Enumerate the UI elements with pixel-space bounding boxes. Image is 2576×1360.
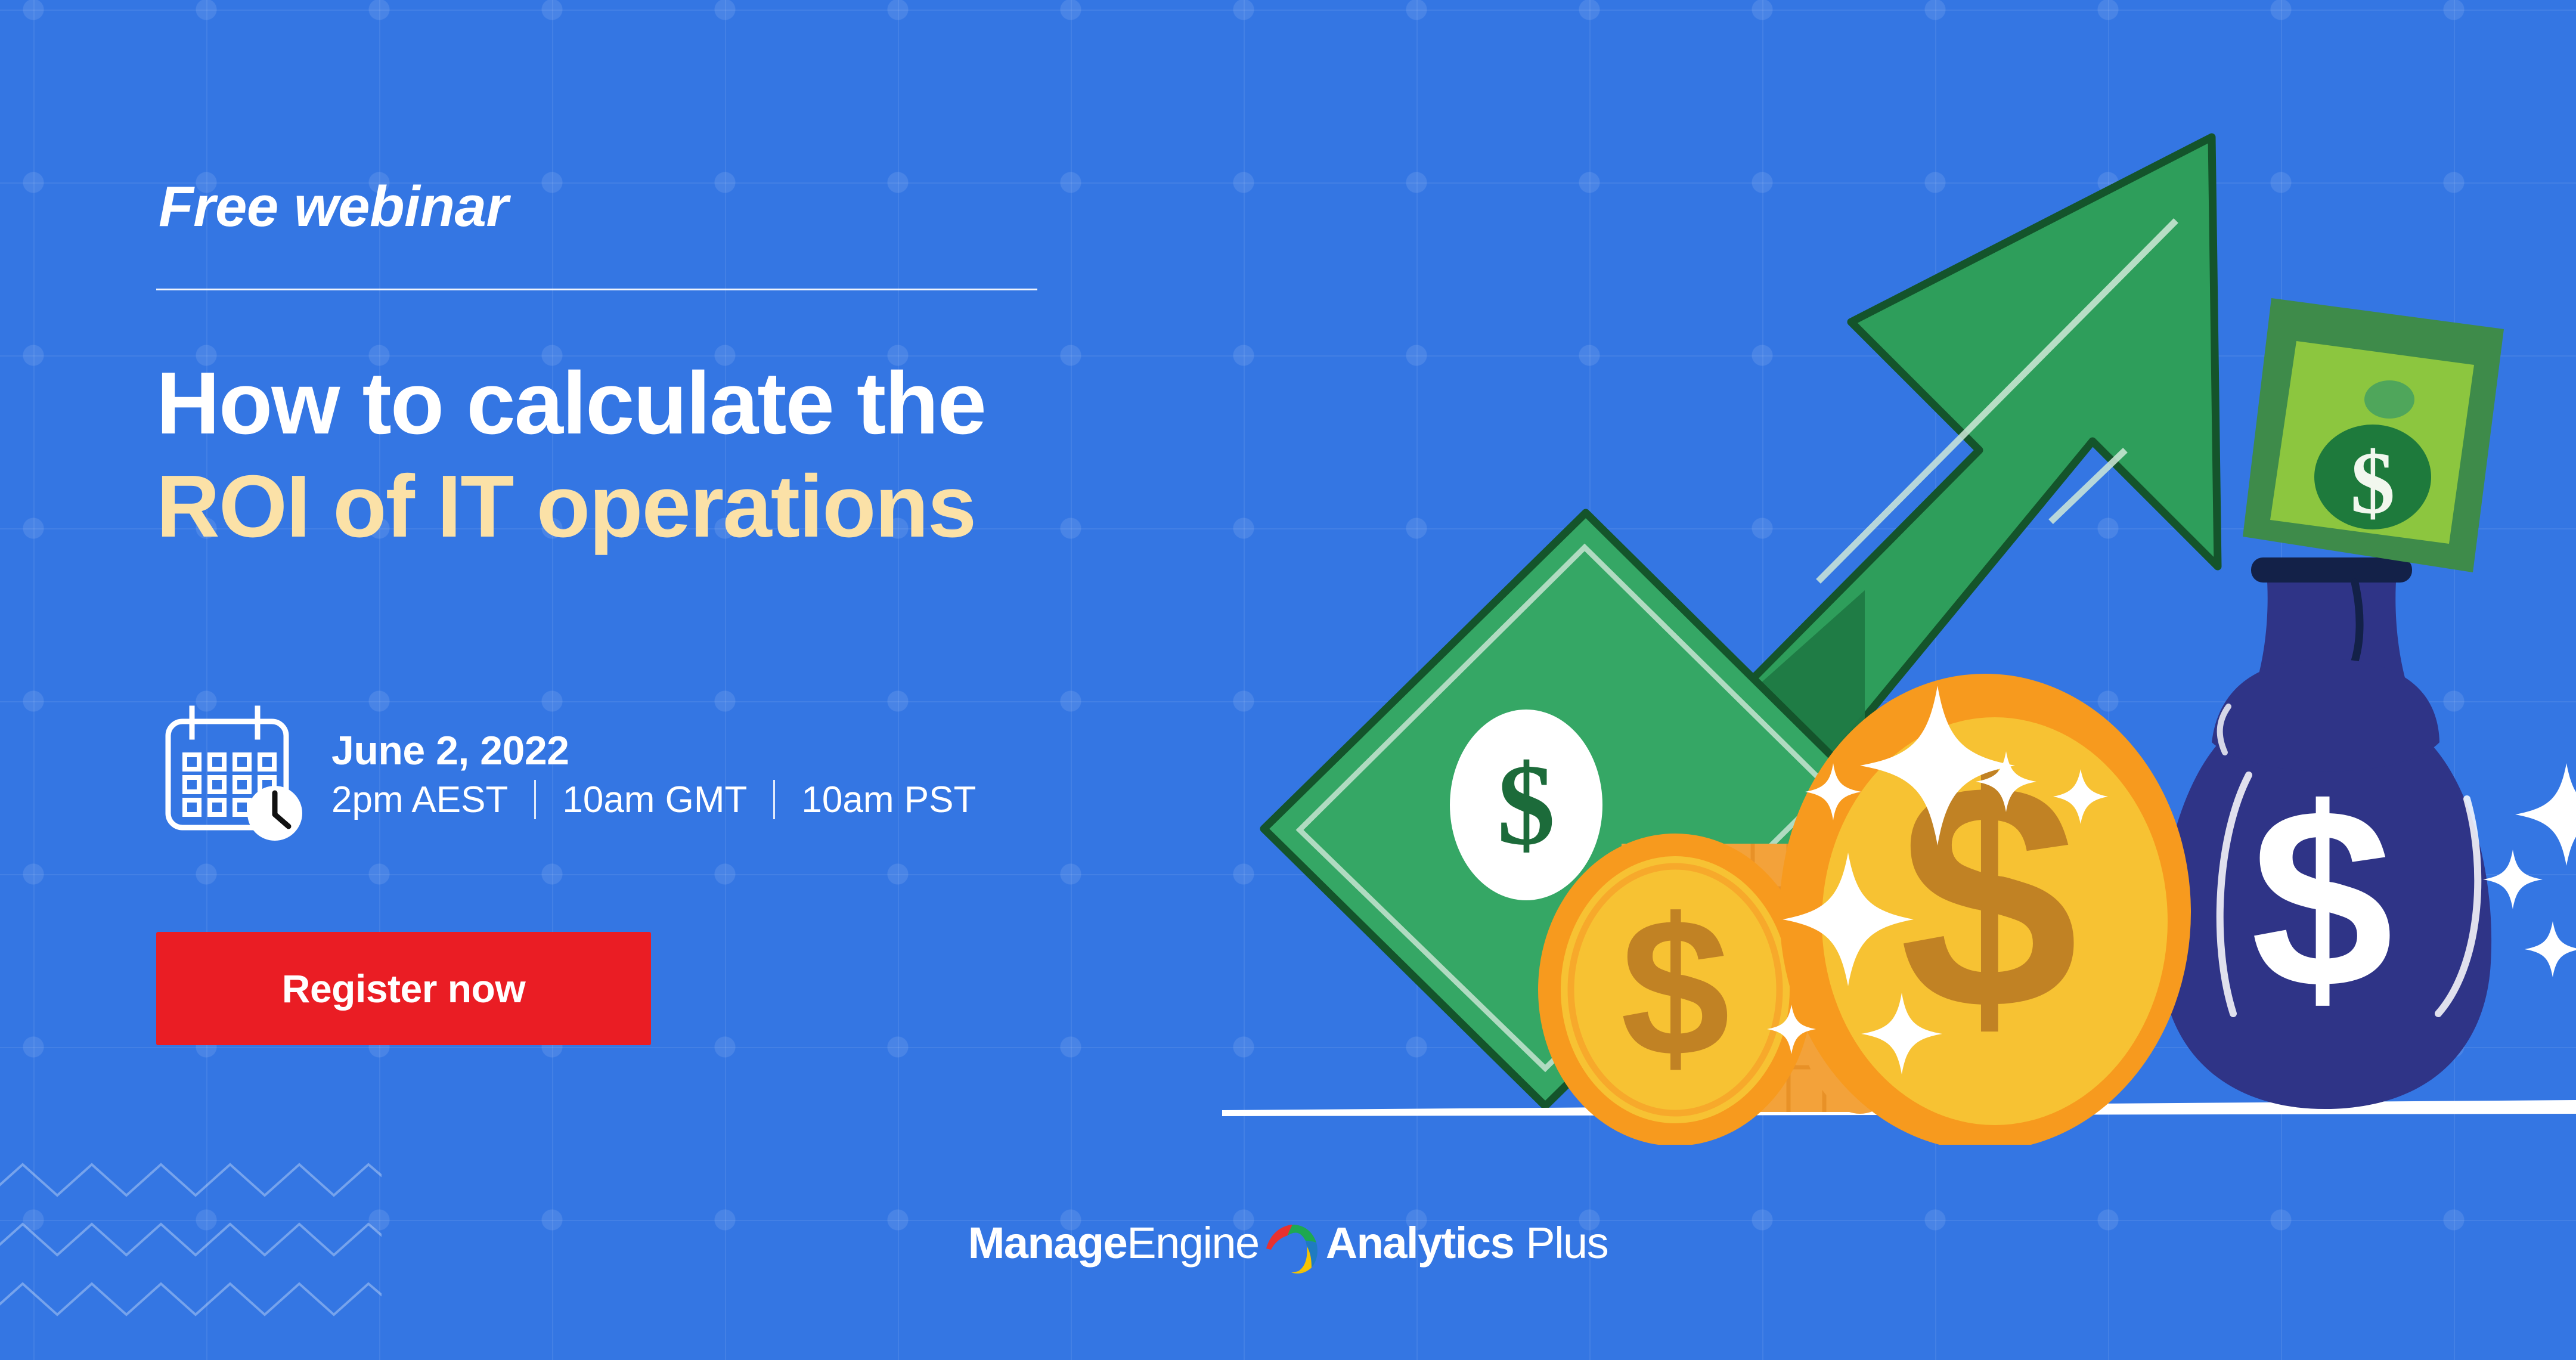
event-times: 2pm AEST 10am GMT 10am PST — [331, 779, 976, 821]
headline-line-2: ROI of IT operations — [156, 455, 1319, 558]
logo-product-light: Plus — [1526, 1218, 1608, 1268]
event-date-times: June 2, 2022 2pm AEST 10am GMT 10am PST — [331, 727, 976, 821]
logo-brand-light: Engine — [1127, 1218, 1258, 1268]
register-now-button[interactable]: Register now — [156, 932, 651, 1045]
headline-line-1: How to calculate the — [156, 352, 1319, 455]
small-gold-coin: $ — [1538, 834, 1812, 1145]
eyebrow-divider — [156, 289, 1037, 290]
green-banknote-arrow-segment: $ — [1264, 513, 1866, 1106]
manageengine-logo[interactable]: Manage Engine Analytics Plus — [0, 1212, 2576, 1274]
bag-lip — [2212, 659, 2439, 772]
logo-product-bold: Analytics — [1326, 1218, 1514, 1268]
eyebrow-label: Free webinar — [159, 174, 508, 240]
calendar-clock-icon — [156, 702, 305, 845]
green-arrow-icon — [1657, 137, 2218, 865]
page-title: How to calculate the ROI of IT operation… — [156, 352, 1319, 558]
growth-arrow-money-illustration: $ $ $ — [1204, 119, 2576, 1145]
logo-brand-bold: Manage — [968, 1218, 1127, 1268]
large-gold-coin: $ — [1780, 674, 2191, 1145]
event-time-aest: 2pm AEST — [331, 779, 508, 821]
event-date: June 2, 2022 — [331, 727, 976, 774]
svg-text:$: $ — [1620, 877, 1730, 1097]
svg-text:$: $ — [2351, 433, 2395, 532]
banner-text-column: Free webinar How to calculate the ROI of… — [156, 0, 1349, 1360]
dollar-badge-white — [1450, 710, 1602, 900]
navy-money-bag-icon: $ — [2160, 557, 2491, 1109]
sparkles — [1767, 686, 2576, 1074]
time-divider-2 — [773, 780, 775, 819]
dollar-coin-stack — [1622, 842, 1927, 1114]
ground-line — [1222, 1100, 2576, 1116]
webinar-promo-banner: $ $ $ — [0, 0, 2576, 1360]
svg-text:$: $ — [1899, 717, 2078, 1076]
time-divider-1 — [534, 780, 536, 819]
svg-text:$: $ — [2250, 755, 2393, 1042]
event-time-pst: 10am PST — [801, 779, 976, 821]
event-datetime-block: June 2, 2022 2pm AEST 10am GMT 10am PST — [156, 702, 976, 845]
green-banknote-in-bag: $ — [2243, 298, 2504, 572]
manageengine-swoosh-icon — [1260, 1212, 1322, 1274]
svg-text:$: $ — [1497, 741, 1555, 869]
event-time-gmt: 10am GMT — [562, 779, 747, 821]
